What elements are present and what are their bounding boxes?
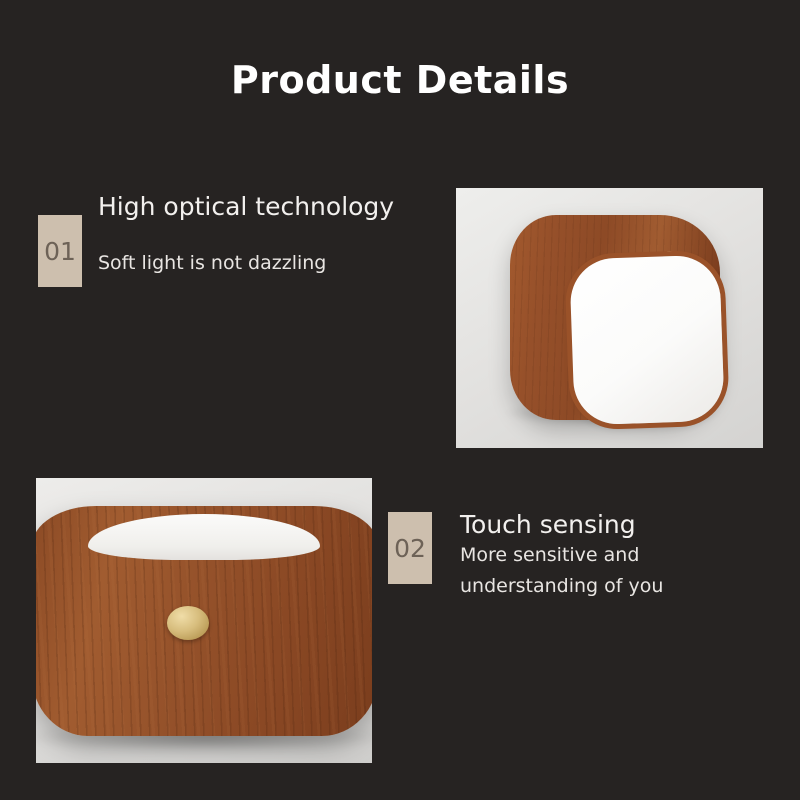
product-details-page: Product Details 01 High optical technolo… (0, 0, 800, 800)
feature-subtext-02: More sensitive and understanding of you (460, 540, 760, 602)
feature-number-badge-01: 01 (38, 215, 82, 287)
feature-heading-01: High optical technology (98, 192, 394, 221)
feature-number-badge-02: 02 (388, 512, 432, 584)
product-photo-front-angle (456, 188, 763, 448)
feature-heading-02: Touch sensing (460, 510, 636, 539)
night-light-body-top (510, 215, 720, 420)
feature-subtext-02-line1: More sensitive and (460, 540, 760, 571)
feature-subtext-02-line2: understanding of you (460, 571, 760, 602)
night-light-body-closeup (36, 506, 372, 736)
light-diffuser-face (569, 254, 725, 425)
feature-subtext-01: Soft light is not dazzling (98, 248, 326, 279)
brass-touch-button-icon (167, 606, 209, 640)
product-photo-closeup (36, 478, 372, 763)
page-title: Product Details (0, 58, 800, 102)
light-diffuser-top-edge (88, 514, 320, 560)
